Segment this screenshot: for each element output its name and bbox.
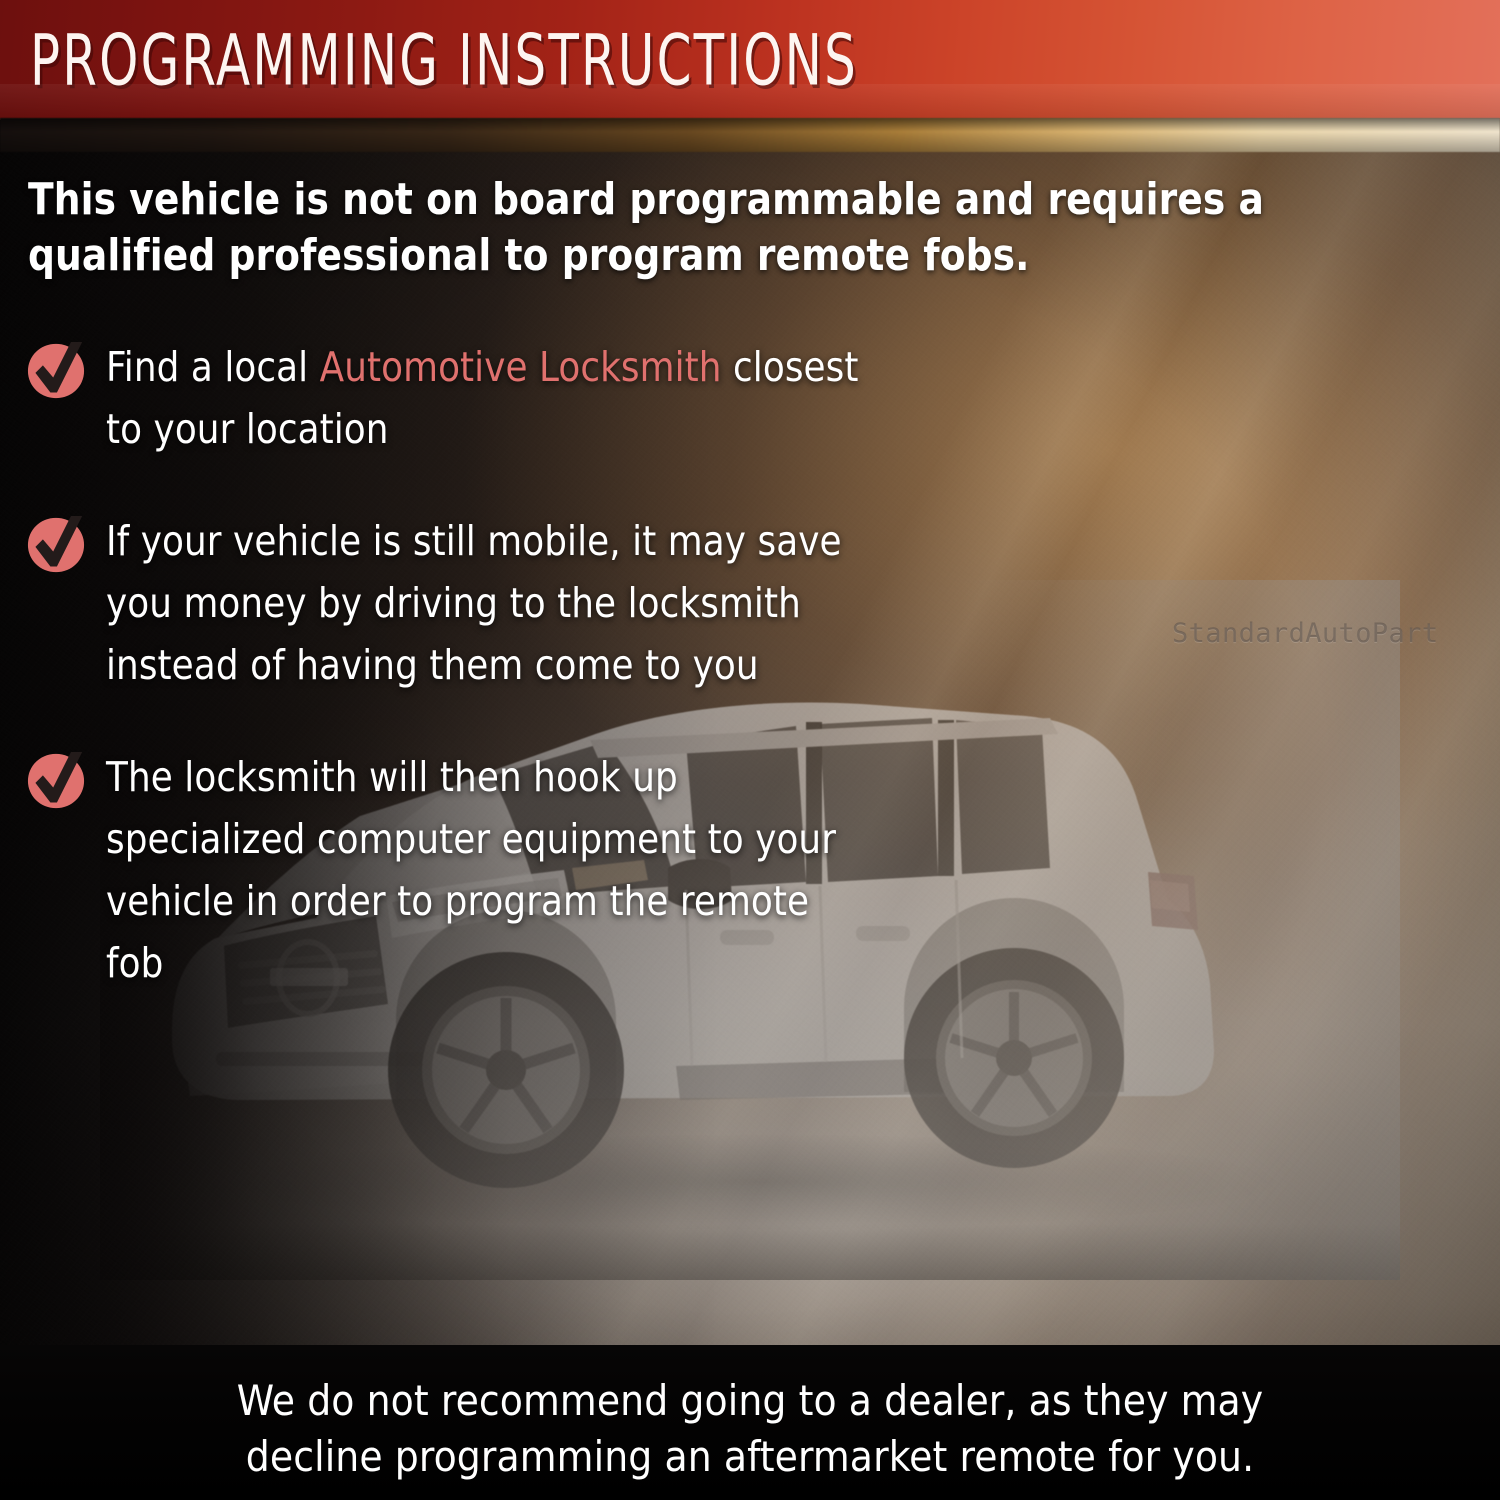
list-item-highlight: Automotive Locksmith: [320, 343, 722, 391]
list-item-label: Find a local Automotive Locksmith closes…: [106, 336, 876, 460]
list-item-text-pre: If your vehicle is still mobile, it may …: [106, 517, 842, 689]
list-item: Find a local Automotive Locksmith closes…: [0, 336, 900, 460]
instruction-list: Find a local Automotive Locksmith closes…: [0, 336, 900, 1044]
header-banner: PROGRAMMING INSTRUCTIONS: [0, 0, 1500, 118]
list-item: If your vehicle is still mobile, it may …: [0, 510, 900, 696]
footer-line-1: We do not recommend going to a dealer, a…: [0, 1373, 1500, 1429]
headline-text: This vehicle is not on board programmabl…: [28, 172, 1301, 284]
check-circle-icon: [26, 342, 86, 400]
banner-glow-divider: [0, 118, 1500, 152]
programming-instructions-poster: PROGRAMMING INSTRUCTIONS This vehicle is…: [0, 0, 1500, 1500]
list-item-text-pre: The locksmith will then hook up speciali…: [106, 753, 836, 987]
check-circle-icon: [26, 752, 86, 810]
footer-text: We do not recommend going to a dealer, a…: [0, 1373, 1500, 1485]
list-item-label: The locksmith will then hook up speciali…: [106, 746, 876, 994]
check-circle-icon: [26, 516, 86, 574]
list-item: The locksmith will then hook up speciali…: [0, 746, 900, 994]
footer-banner: We do not recommend going to a dealer, a…: [0, 1345, 1500, 1500]
footer-line-2: decline programming an aftermarket remot…: [0, 1429, 1500, 1485]
list-item-label: If your vehicle is still mobile, it may …: [106, 510, 876, 696]
page-title: PROGRAMMING INSTRUCTIONS: [30, 22, 858, 100]
list-item-text-pre: Find a local: [106, 343, 320, 391]
watermark: StandardAutoPart: [1172, 618, 1439, 649]
